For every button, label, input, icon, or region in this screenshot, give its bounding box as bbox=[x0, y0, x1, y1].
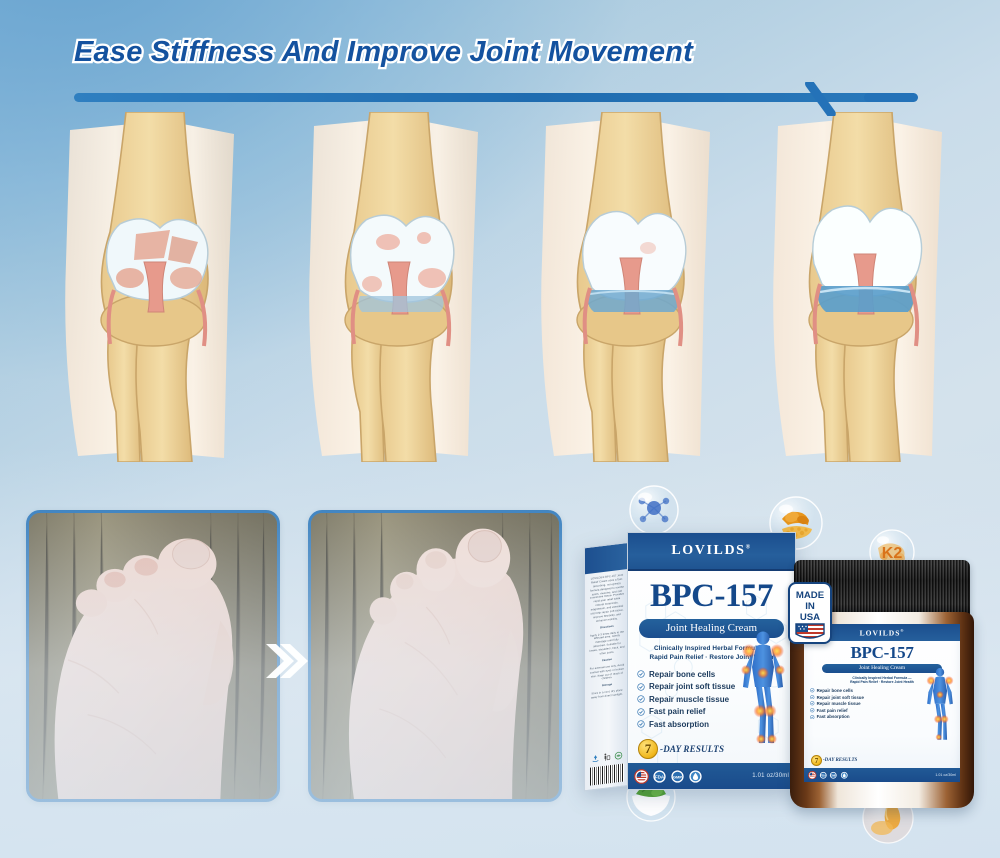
knee-stage-sequence bbox=[0, 112, 1000, 468]
svg-text:GMP: GMP bbox=[830, 774, 836, 777]
knee-stage-3 bbox=[520, 112, 750, 462]
check-circle-icon bbox=[810, 688, 815, 693]
side-directions: Apply 2-3 times daily to the affected ar… bbox=[589, 630, 625, 658]
svg-text:FDA: FDA bbox=[655, 774, 665, 779]
benefit-list: Repair bone cells Repair joint soft tiss… bbox=[637, 670, 786, 729]
jar-benefit-label: Repair joint soft tissue bbox=[817, 695, 864, 700]
side-storage: Store in a cool, dry place away from dir… bbox=[589, 689, 625, 701]
jar-benefit-item: Fast absorption bbox=[810, 714, 954, 719]
jar-results-badge: 7 -DAY RESULTS bbox=[811, 755, 857, 766]
knee-stage-1 bbox=[48, 112, 278, 462]
double-chevron-right-icon bbox=[266, 644, 308, 678]
jar-benefit-list: Repair bone cells Repair joint soft tiss… bbox=[810, 688, 954, 719]
product-jar[interactable]: LOVILDS® BPC-157 Joint Healing Cream Cli… bbox=[790, 560, 974, 812]
recycle-icon bbox=[591, 753, 600, 763]
usa-flag-seal-icon bbox=[634, 769, 649, 784]
jar-label: LOVILDS® BPC-157 Joint Healing Cream Cli… bbox=[804, 624, 960, 782]
headline-container: Ease Stiffness And Improve Joint Movemen… bbox=[74, 36, 974, 69]
svg-text:GMP: GMP bbox=[673, 774, 683, 779]
jar-results-badge-text: -DAY RESULTS bbox=[823, 758, 857, 763]
jar-product-name: BPC-157 bbox=[810, 644, 954, 661]
brand-registered-mark: ® bbox=[746, 544, 752, 550]
bubble-molecule bbox=[628, 484, 680, 536]
made-in-usa-badge: MADE IN USA bbox=[788, 582, 832, 644]
in-label: IN bbox=[805, 601, 815, 612]
benefit-label: Repair bone cells bbox=[649, 670, 715, 679]
quality-drop-seal-icon bbox=[840, 771, 849, 780]
box-brand-header: LOVILDS® bbox=[628, 533, 795, 571]
jar-benefit-item: Repair joint soft tissue bbox=[810, 695, 954, 700]
jar-benefit-label: Repair muscle tissue bbox=[817, 701, 861, 706]
jar-brand-name: LOVILDS® bbox=[860, 628, 905, 638]
dispose-in-bin-icon bbox=[602, 752, 611, 762]
benefit-item: Fast absorption bbox=[637, 720, 786, 729]
svg-text:FDA: FDA bbox=[820, 773, 826, 777]
check-circle-icon bbox=[637, 708, 645, 716]
results-badge: 7 -DAY RESULTS bbox=[638, 739, 724, 759]
check-circle-icon bbox=[637, 683, 645, 691]
knee-stage-4 bbox=[752, 112, 982, 462]
gmp-seal-icon: GMP bbox=[670, 769, 685, 784]
box-certification-footer: FDA GMP 1.01 oz bbox=[628, 763, 795, 789]
usa-label: USA bbox=[800, 612, 820, 623]
check-circle-icon bbox=[810, 701, 815, 706]
before-after-arrow bbox=[264, 640, 308, 682]
usa-flag-seal-icon bbox=[808, 771, 817, 780]
side-caution: For external use only. Avoid contact wit… bbox=[589, 663, 625, 683]
benefit-label: Fast absorption bbox=[649, 720, 709, 729]
after-photo bbox=[308, 510, 562, 802]
product-box[interactable]: LOVILDS® BPC-157 Joint Relief Cream uses… bbox=[584, 532, 796, 790]
fda-seal-icon: FDA bbox=[819, 771, 828, 780]
jar-benefit-item: Repair muscle tissue bbox=[810, 701, 954, 706]
results-badge-text: -DAY RESULTS bbox=[660, 744, 724, 754]
box-side-panel: LOVILDS® BPC-157 Joint Relief Cream uses… bbox=[584, 542, 628, 791]
check-circle-icon bbox=[810, 708, 815, 713]
gmp-seal-icon: GMP bbox=[829, 771, 838, 780]
check-circle-icon bbox=[637, 670, 645, 678]
check-circle-icon bbox=[637, 720, 645, 728]
green-dot-icon bbox=[614, 751, 623, 761]
side-description: LOVILDS® BPC-157 Joint Relief Cream uses… bbox=[589, 573, 625, 624]
benefit-item: Fast pain relief bbox=[637, 707, 786, 716]
knee-stage-2 bbox=[290, 112, 520, 462]
headline-divider bbox=[74, 82, 980, 116]
jar-benefit-label: Repair bone cells bbox=[817, 688, 853, 693]
jar-benefit-item: Fast pain relief bbox=[810, 708, 954, 713]
check-circle-icon bbox=[637, 695, 645, 703]
benefit-label: Repair joint soft tissue bbox=[649, 682, 735, 691]
side-panel-icons bbox=[590, 750, 624, 763]
jar-benefit-item: Repair bone cells bbox=[810, 688, 954, 693]
benefit-item: Repair muscle tissue bbox=[637, 695, 786, 704]
jar-benefit-label: Fast absorption bbox=[817, 714, 850, 719]
benefit-label: Fast pain relief bbox=[649, 707, 705, 716]
page-title: Ease Stiffness And Improve Joint Movemen… bbox=[74, 36, 974, 69]
jar-certification-footer: FDA GMP bbox=[804, 768, 960, 782]
barcode bbox=[590, 763, 624, 785]
jar-net-weight: 1.01 oz/30ml bbox=[935, 773, 956, 777]
benefit-label: Repair muscle tissue bbox=[649, 695, 729, 704]
box-side-header bbox=[585, 543, 628, 574]
check-circle-icon bbox=[810, 715, 815, 720]
promo-banner: Ease Stiffness And Improve Joint Movemen… bbox=[0, 0, 1000, 858]
net-weight: 1.01 oz/30ml bbox=[752, 773, 789, 779]
product-name: BPC-157 bbox=[637, 580, 786, 613]
check-circle-icon bbox=[810, 695, 815, 700]
quality-drop-seal-icon bbox=[688, 769, 703, 784]
side-panel-copy: LOVILDS® BPC-157 Joint Relief Cream uses… bbox=[589, 573, 625, 703]
results-badge-number: 7 bbox=[638, 739, 658, 759]
jar-benefit-label: Fast pain relief bbox=[817, 708, 848, 713]
box-front-face: LOVILDS® BPC-157 bbox=[627, 532, 796, 790]
benefit-item: Repair joint soft tissue bbox=[637, 682, 786, 691]
made-label: MADE bbox=[796, 590, 825, 601]
fda-seal-icon: FDA bbox=[652, 769, 667, 784]
benefit-item: Repair bone cells bbox=[637, 670, 786, 679]
brand-name: LOVILDS® bbox=[671, 543, 751, 559]
jar-results-badge-number: 7 bbox=[811, 755, 822, 766]
before-photo bbox=[26, 510, 280, 802]
